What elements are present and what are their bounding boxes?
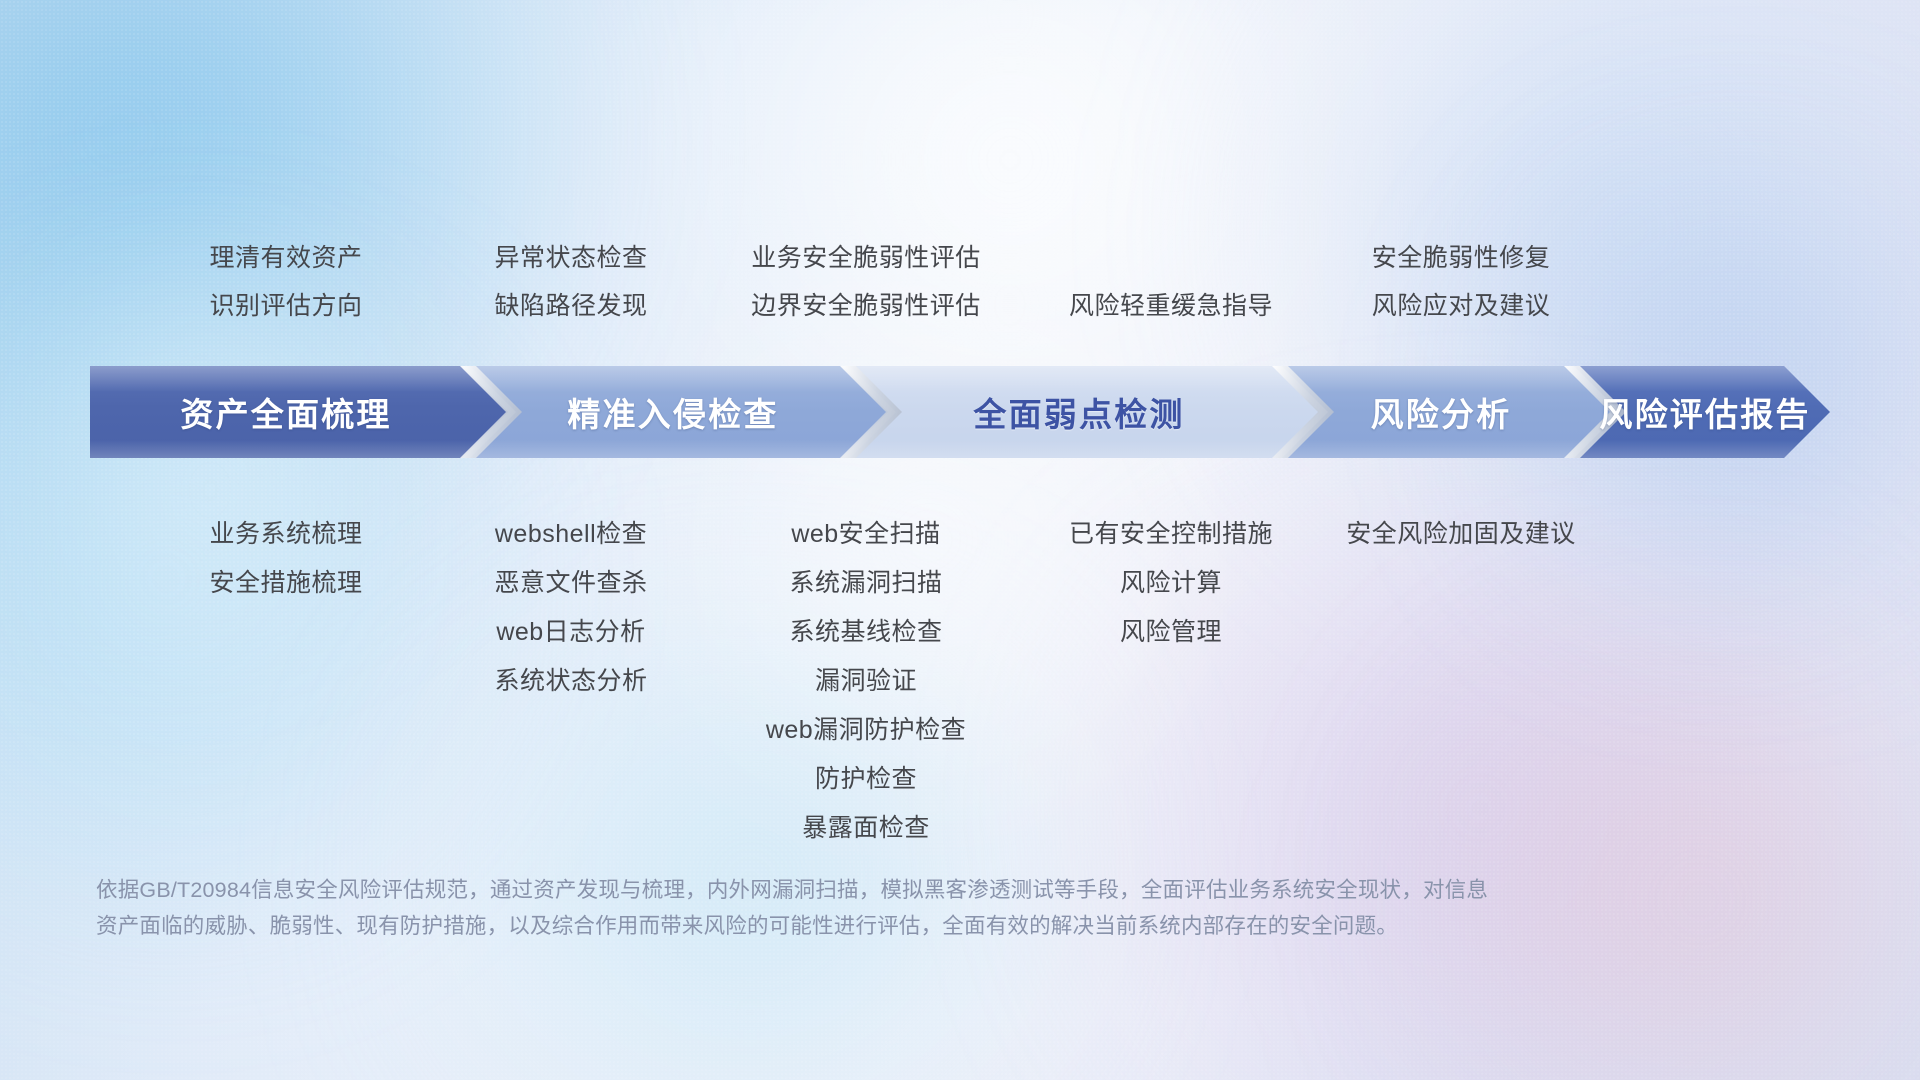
chevron-stage-weakness-detection[interactable]: 全面弱点检测 bbox=[850, 366, 1320, 458]
chevron-stage-asset-inventory[interactable]: 资产全面梳理 bbox=[90, 366, 508, 458]
chevron-stage-risk-report[interactable]: 风险评估报告 bbox=[1574, 366, 1830, 458]
bottom-items-risk-report: 安全风险加固及建议 bbox=[1201, 510, 1721, 559]
top-items-risk-report: 安全脆弱性修复风险应对及建议 bbox=[1201, 234, 1721, 330]
chevron-label-weakness-detection: 全面弱点检测 bbox=[973, 388, 1184, 436]
footer-description: 依据GB/T20984信息安全风险评估规范，通过资产发现与梳理，内外网漏洞扫描，… bbox=[96, 872, 1626, 944]
chevron-stage-intrusion-check[interactable]: 精准入侵检查 bbox=[470, 366, 888, 458]
chevron-label-risk-analysis: 风险分析 bbox=[1371, 388, 1512, 436]
chevron-label-risk-report: 风险评估报告 bbox=[1599, 388, 1810, 436]
top-item: 风险应对及建议 bbox=[1201, 282, 1721, 330]
top-item: 安全脆弱性修复 bbox=[1201, 234, 1721, 282]
process-chevron-band: 资产全面梳理精准入侵检查全面弱点检测风险分析风险评估报告 bbox=[90, 366, 1830, 458]
chevron-label-asset-inventory: 资产全面梳理 bbox=[180, 388, 391, 436]
chevron-label-intrusion-check: 精准入侵检查 bbox=[567, 388, 778, 436]
footer-line-1: 依据GB/T20984信息安全风险评估规范，通过资产发现与梳理，内外网漏洞扫描，… bbox=[96, 872, 1626, 908]
bottom-item: 安全风险加固及建议 bbox=[1201, 510, 1721, 559]
footer-line-2: 资产面临的威胁、脆弱性、现有防护措施，以及综合作用而带来风险的可能性进行评估，全… bbox=[96, 908, 1626, 944]
